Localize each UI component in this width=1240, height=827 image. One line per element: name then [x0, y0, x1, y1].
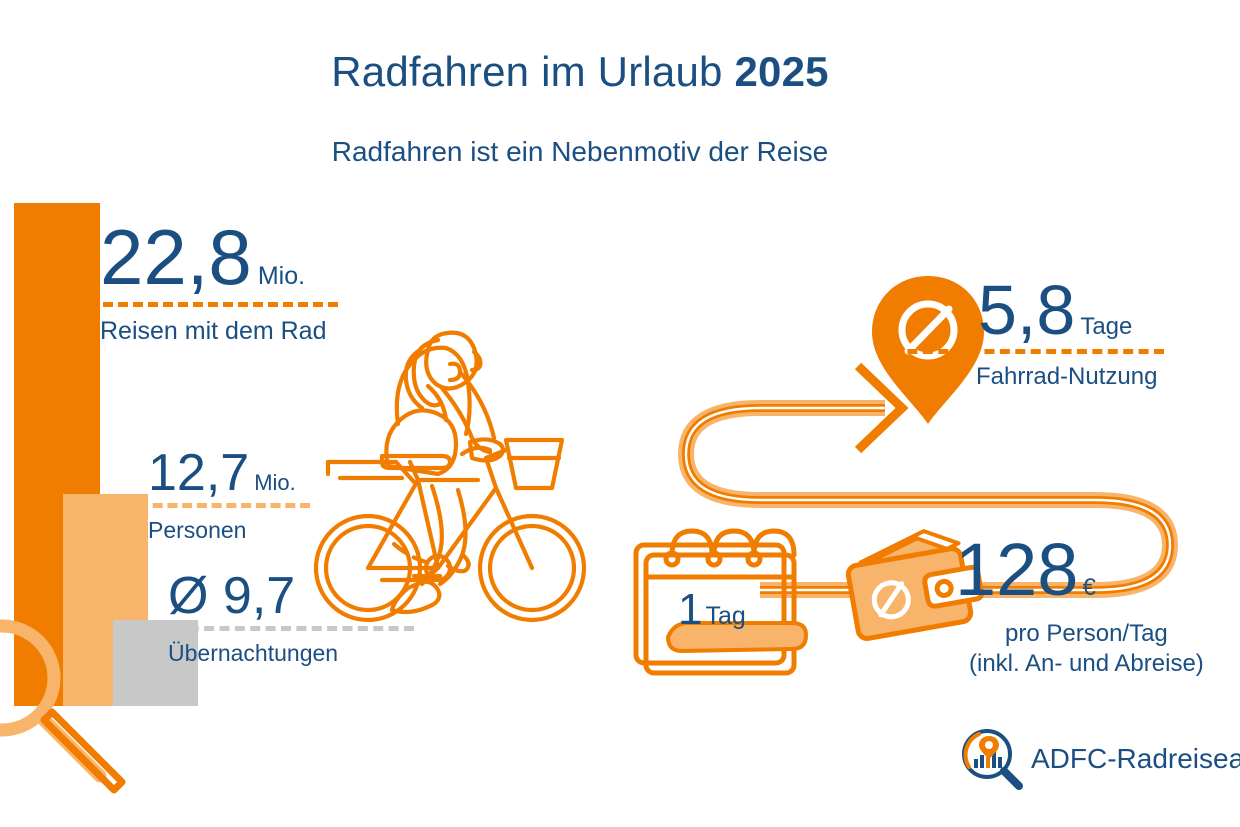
adfc-logo[interactable]: ADFC-Radreiseanalyse [955, 726, 1240, 792]
stat-days-unit: Tage [1080, 313, 1132, 341]
stat-trips-value: 22,8 [100, 218, 252, 296]
stat-nights-caption: Übernachtungen [168, 639, 414, 668]
stat-trips-divider [88, 302, 338, 307]
calendar-value: 1 [678, 585, 702, 634]
stat-days-divider [892, 349, 1164, 354]
stat-days-value: 5,8 [978, 275, 1075, 345]
logo-magnifier-chart-icon [955, 726, 1025, 792]
stat-price-unit: € [1082, 574, 1095, 602]
calendar-unit: Tag [705, 602, 745, 630]
magnifier-icon [0, 600, 160, 800]
stat-price-caption-line2: (inkl. An- und Abreise) [969, 649, 1204, 679]
stat-nights-divider [158, 626, 414, 631]
stat-persons-caption: Personen [148, 516, 310, 545]
stat-persons-value: 12,7 [148, 447, 249, 499]
stat-trips-caption: Reisen mit dem Rad [100, 316, 338, 347]
stat-persons-unit: Mio. [254, 470, 296, 496]
page-title-main: Radfahren im Urlaub [331, 48, 734, 95]
stat-preis-pro-person-tag: 128€ pro Person/Tag (inkl. An- und Abrei… [955, 533, 1204, 679]
stat-price-caption-line1: pro Person/Tag [969, 619, 1204, 649]
stat-reisen-mit-dem-rad: 22,8Mio. Reisen mit dem Rad [100, 218, 338, 347]
stat-persons-divider [138, 503, 310, 508]
page-title: Radfahren im Urlaub 2025 [0, 48, 1160, 96]
stat-fahrrad-nutzung: 5,8Tage Fahrrad-Nutzung [978, 275, 1164, 392]
page-title-year: 2025 [734, 48, 828, 95]
stat-price-value: 128 [955, 533, 1078, 607]
stat-price-caption: pro Person/Tag (inkl. An- und Abreise) [969, 619, 1204, 679]
page-subtitle: Radfahren ist ein Nebenmotiv der Reise [0, 136, 1160, 168]
stat-uebernachtungen: Ø 9,7 Übernachtungen [168, 570, 414, 668]
calendar-label: 1Tag [678, 585, 746, 635]
stat-personen: 12,7Mio. Personen [148, 447, 310, 545]
stat-nights-value: Ø 9,7 [168, 570, 295, 622]
logo-text: ADFC-Radreiseanalyse [1031, 743, 1240, 775]
stat-days-caption: Fahrrad-Nutzung [976, 362, 1164, 392]
stat-trips-unit: Mio. [258, 262, 305, 291]
infographic-canvas: Radfahren im Urlaub 2025 Radfahren ist e… [0, 0, 1240, 827]
